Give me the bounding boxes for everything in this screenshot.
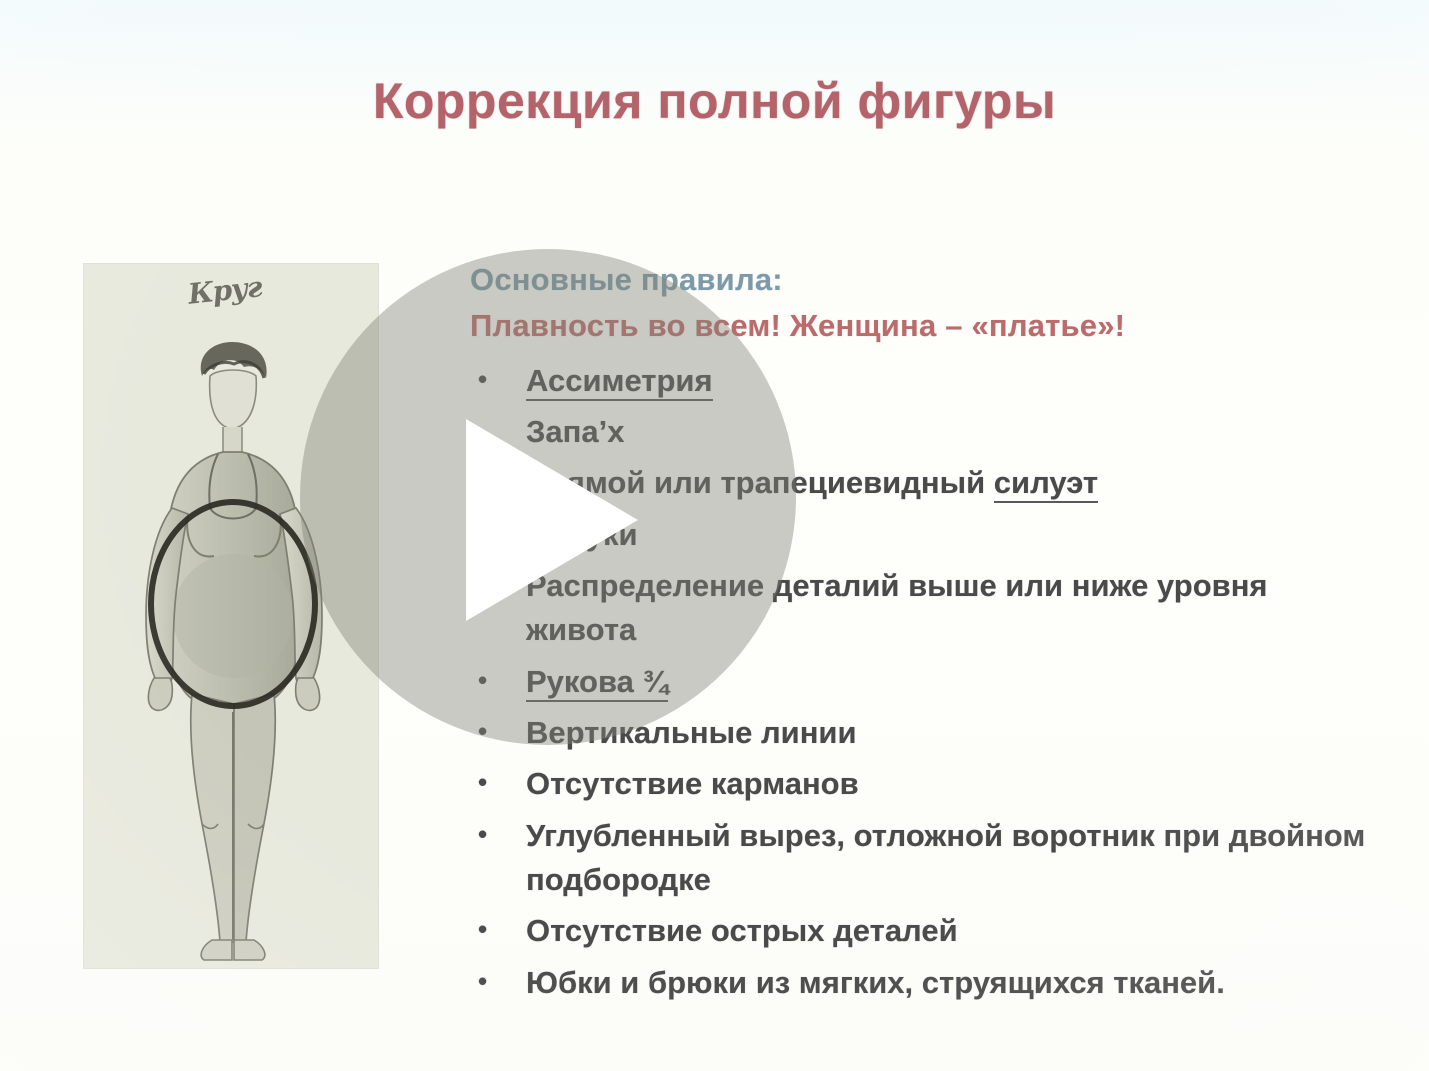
rule-item-emphasis: силуэт bbox=[994, 465, 1098, 503]
rule-item: •Отсутствие острых деталей bbox=[470, 909, 1375, 953]
video-slide-frame: Коррекция полной фигуры bbox=[0, 0, 1429, 1071]
bullet-dot-icon: • bbox=[478, 909, 487, 951]
bullet-dot-icon: • bbox=[478, 762, 487, 804]
rule-item-label: Юбки и брюки из мягких, струящихся ткане… bbox=[526, 965, 1225, 1000]
rule-item: •Юбки и брюки из мягких, струящихся ткан… bbox=[470, 961, 1375, 1005]
rule-item: •Отсутствие карманов bbox=[470, 762, 1375, 806]
rule-item: •Углубленный вырез, отложной воротник пр… bbox=[470, 814, 1375, 903]
play-triangle-icon[interactable] bbox=[466, 419, 638, 621]
page-title: Коррекция полной фигуры bbox=[0, 72, 1429, 130]
bullet-dot-icon: • bbox=[478, 961, 487, 1003]
rule-item-label: Углубленный вырез, отложной воротник при… bbox=[526, 818, 1365, 897]
rule-item-label: Отсутствие карманов bbox=[526, 766, 859, 801]
bullet-dot-icon: • bbox=[478, 814, 487, 856]
rule-item-label: Отсутствие острых деталей bbox=[526, 913, 958, 948]
